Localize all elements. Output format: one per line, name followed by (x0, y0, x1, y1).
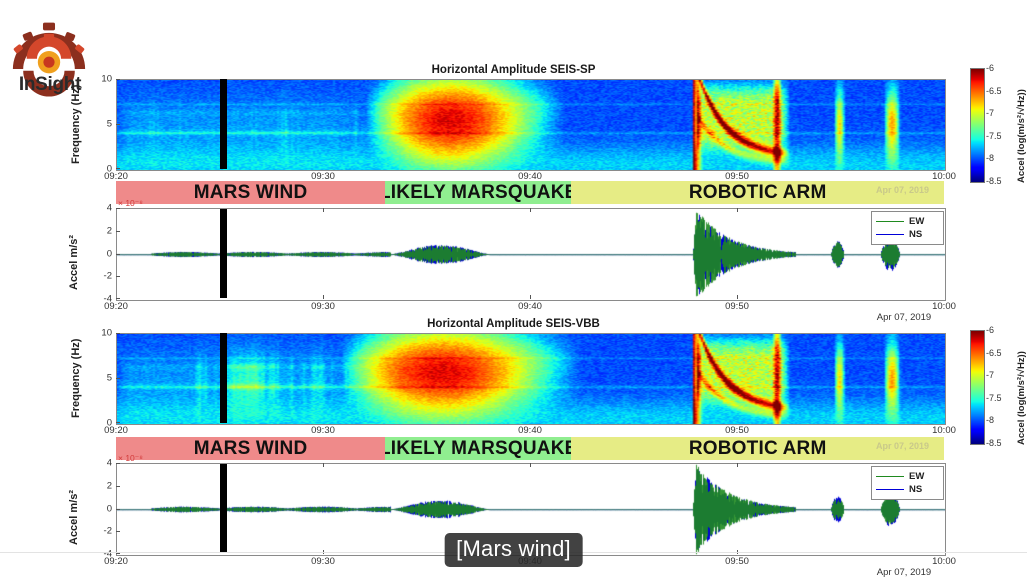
insight-wordmark: InSight (4, 74, 96, 96)
waveform-legend: EWNS (871, 466, 944, 500)
y-tick-label: 4 (90, 203, 112, 214)
x-tick-label: 09:50 (725, 556, 749, 567)
legend-label: NS (909, 484, 922, 495)
y-tick-mark (116, 333, 120, 334)
legend-entry: NS (876, 483, 938, 496)
chart-title-spectrogram-sp: Horizontal Amplitude SEIS-SP (0, 64, 1027, 76)
annotation-band-likely-marsquake: LIKELY MARSQUAKE (385, 437, 571, 460)
x-tick-label: 09:20 (104, 425, 128, 436)
legend-line-swatch (876, 489, 904, 490)
y-tick-mark (116, 124, 120, 125)
x-tick-mark (530, 208, 531, 212)
chart-title-spectrogram-vbb: Horizontal Amplitude SEIS-VBB (0, 318, 1027, 330)
waveform-waveform-sp[interactable] (116, 208, 946, 301)
legend-entry: EW (876, 470, 938, 483)
y-tick-mark (116, 79, 120, 80)
y-axis-label-frequency: Frequency (Hz) (70, 85, 82, 164)
annotation-band-label: ROBOTIC ARM (689, 438, 827, 460)
axis-date-stamp: Apr 07, 2019 (877, 567, 931, 578)
y-tick-label: 10 (90, 328, 112, 339)
spectrogram-spectrogram-vbb[interactable] (116, 333, 946, 425)
x-tick-label: 09:20 (104, 301, 128, 312)
x-tick-mark (737, 208, 738, 212)
y-axis-multiplier: × 10⁻⁸ (118, 198, 143, 209)
y-tick-mark (116, 509, 120, 510)
band-date-watermark: Apr 07, 2019 (876, 441, 929, 451)
legend-line-swatch (876, 234, 904, 235)
x-tick-mark (530, 463, 531, 467)
colorbar-tick-label: -6 (986, 325, 994, 335)
y-axis-label-accel: Accel m/s² (68, 489, 80, 544)
playhead-cursor-waveform[interactable] (220, 464, 227, 553)
y-tick-mark (116, 276, 120, 277)
y-tick-mark (116, 553, 120, 554)
colorbar-tick-label: -7 (986, 370, 994, 380)
colorbar-tick-label: -7 (986, 108, 994, 118)
x-tick-label: 09:20 (104, 556, 128, 567)
y-tick-label: 5 (90, 373, 112, 384)
annotation-band-label: LIKELY MARSQUAKE (385, 182, 571, 204)
annotation-band-mars-wind: MARS WIND (116, 437, 385, 460)
y-tick-label: 0 (90, 248, 112, 259)
y-tick-mark (116, 486, 120, 487)
x-tick-label: 09:50 (725, 425, 749, 436)
colorbar-tick-label: -8.5 (986, 438, 1002, 448)
colorbar-spectrogram-sp (970, 68, 985, 183)
legend-entry: NS (876, 228, 938, 241)
annotation-band-label: ROBOTIC ARM (689, 182, 827, 204)
annotation-band-row: MARS WINDLIKELY MARSQUAKEROBOTIC ARMApr … (116, 437, 944, 460)
colorbar-tick-label: -8 (986, 153, 994, 163)
colorbar-axis-label: Accel (log(m/s²/√Hz)) (1016, 89, 1027, 183)
x-tick-mark (323, 208, 324, 212)
colorbar-spectrogram-vbb (970, 330, 985, 445)
y-axis-multiplier: × 10⁻⁸ (118, 453, 143, 464)
playhead-cursor-spectrogram[interactable] (220, 79, 227, 169)
x-tick-label: 09:30 (311, 425, 335, 436)
y-tick-mark (116, 422, 120, 423)
x-tick-label: 09:40 (518, 425, 542, 436)
legend-entry: EW (876, 215, 938, 228)
x-tick-label: 10:00 (932, 556, 956, 567)
x-tick-mark (530, 295, 531, 299)
spectrogram-canvas (117, 334, 945, 424)
video-caption: [Mars wind] (444, 533, 583, 567)
playhead-cursor-spectrogram[interactable] (220, 333, 227, 423)
waveform-canvas (117, 209, 945, 300)
legend-label: EW (909, 471, 924, 482)
legend-label: EW (909, 216, 924, 227)
y-tick-mark (116, 531, 120, 532)
x-tick-label: 10:00 (932, 301, 956, 312)
y-tick-label: 2 (90, 225, 112, 236)
y-tick-label: 10 (90, 74, 112, 85)
y-tick-mark (116, 231, 120, 232)
annotation-band-label: LIKELY MARSQUAKE (385, 438, 571, 460)
colorbar-tick-label: -7.5 (986, 393, 1002, 403)
y-tick-mark (116, 378, 120, 379)
colorbar-gradient (971, 69, 984, 182)
y-tick-mark (116, 168, 120, 169)
y-tick-label: -2 (90, 526, 112, 537)
y-tick-label: 0 (90, 503, 112, 514)
spectrogram-spectrogram-sp[interactable] (116, 79, 946, 171)
y-axis-label-frequency: Frequency (Hz) (70, 339, 82, 418)
colorbar-tick-label: -8 (986, 415, 994, 425)
y-tick-label: 4 (90, 458, 112, 469)
colorbar-tick-label: -8.5 (986, 176, 1002, 186)
legend-label: NS (909, 229, 922, 240)
annotation-band-label: MARS WIND (194, 438, 308, 460)
waveform-legend: EWNS (871, 211, 944, 245)
annotation-band-row: MARS WINDLIKELY MARSQUAKEROBOTIC ARMApr … (116, 181, 944, 204)
band-date-watermark: Apr 07, 2019 (876, 185, 929, 195)
annotation-band-label: MARS WIND (194, 182, 308, 204)
x-tick-label: 10:00 (932, 425, 956, 436)
colorbar-tick-label: -6.5 (986, 86, 1002, 96)
y-tick-mark (116, 254, 120, 255)
x-tick-mark (323, 463, 324, 467)
colorbar-tick-label: -7.5 (986, 131, 1002, 141)
legend-line-swatch (876, 221, 904, 222)
colorbar-gradient (971, 331, 984, 444)
spectrogram-canvas (117, 80, 945, 170)
legend-line-swatch (876, 476, 904, 477)
x-tick-mark (737, 463, 738, 467)
y-axis-label-accel: Accel m/s² (68, 234, 80, 289)
y-tick-label: 5 (90, 119, 112, 130)
x-tick-label: 09:30 (311, 301, 335, 312)
x-tick-mark (323, 295, 324, 299)
x-tick-label: 09:50 (725, 301, 749, 312)
y-tick-label: 2 (90, 480, 112, 491)
annotation-band-likely-marsquake: LIKELY MARSQUAKE (385, 181, 571, 204)
playhead-cursor-waveform[interactable] (220, 209, 227, 298)
y-tick-mark (116, 298, 120, 299)
y-tick-label: -2 (90, 271, 112, 282)
x-tick-label: 09:30 (311, 556, 335, 567)
annotation-band-mars-wind: MARS WIND (116, 181, 385, 204)
colorbar-tick-label: -6.5 (986, 348, 1002, 358)
x-tick-label: 09:40 (518, 301, 542, 312)
colorbar-tick-label: -6 (986, 63, 994, 73)
colorbar-axis-label: Accel (log(m/s²/√Hz)) (1016, 351, 1027, 445)
x-tick-mark (737, 295, 738, 299)
